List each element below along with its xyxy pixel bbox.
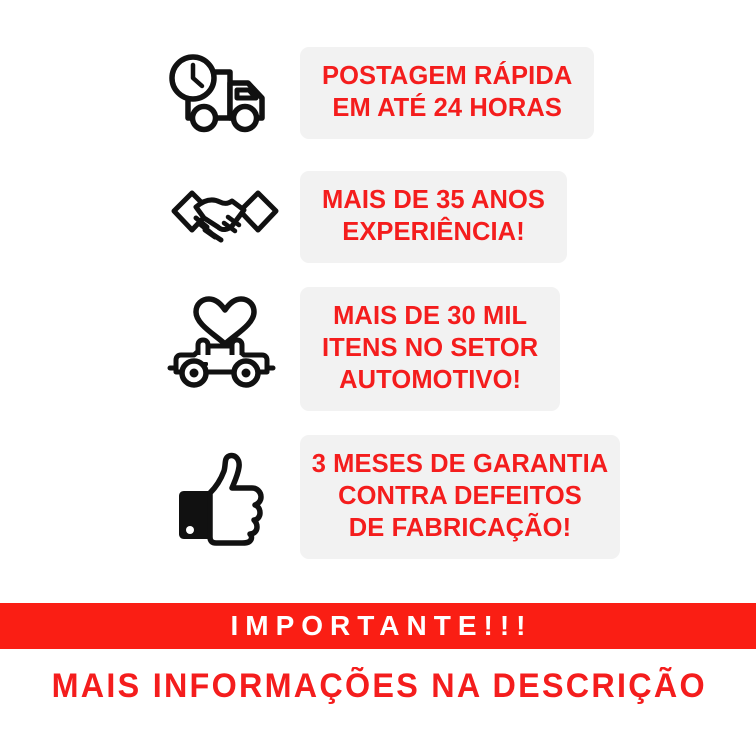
description-callout: MAIS INFORMAÇÕES NA DESCRIÇÃO	[0, 655, 756, 717]
benefits-list: POSTAGEM RÁPIDA EM ATÉ 24 HORAS	[0, 0, 756, 596]
car-heart-icon	[150, 296, 300, 402]
benefit-text-line: CONTRA DEFEITOS	[338, 480, 582, 512]
promo-banner: POSTAGEM RÁPIDA EM ATÉ 24 HORAS	[0, 0, 756, 756]
delivery-truck-clock-icon	[150, 40, 300, 146]
benefit-text-line: EM ATÉ 24 HORAS	[332, 92, 562, 124]
benefit-text-line: POSTAGEM RÁPIDA	[322, 60, 572, 92]
benefit-pill-experience: MAIS DE 35 ANOS EXPERIÊNCIA!	[300, 171, 567, 263]
benefit-text-line: AUTOMOTIVO!	[339, 364, 521, 396]
benefit-text-line: MAIS DE 30 MIL	[333, 300, 527, 332]
benefit-row-warranty: 3 MESES DE GARANTIA CONTRA DEFEITOS DE F…	[150, 435, 620, 559]
benefit-row-fast-shipping: POSTAGEM RÁPIDA EM ATÉ 24 HORAS	[150, 40, 620, 146]
benefit-pill-warranty: 3 MESES DE GARANTIA CONTRA DEFEITOS DE F…	[300, 435, 620, 559]
benefit-row-experience: MAIS DE 35 ANOS EXPERIÊNCIA!	[150, 164, 620, 270]
benefit-text-line: DE FABRICAÇÃO!	[349, 512, 571, 544]
benefit-text-line: EXPERIÊNCIA!	[342, 216, 525, 248]
benefit-pill-automotive-items: MAIS DE 30 MIL ITENS NO SETOR AUTOMOTIVO…	[300, 287, 560, 411]
benefit-text-line: ITENS NO SETOR	[322, 332, 538, 364]
important-label: IMPORTANTE!!!	[224, 603, 533, 649]
benefit-text-line: MAIS DE 35 ANOS	[322, 184, 545, 216]
benefit-pill-fast-shipping: POSTAGEM RÁPIDA EM ATÉ 24 HORAS	[300, 47, 594, 139]
benefit-row-automotive-items: MAIS DE 30 MIL ITENS NO SETOR AUTOMOTIVO…	[150, 287, 620, 411]
handshake-icon	[150, 164, 300, 270]
thumbs-up-icon	[150, 444, 300, 550]
description-label: MAIS INFORMAÇÕES NA DESCRIÇÃO	[49, 663, 707, 709]
benefit-text-line: 3 MESES DE GARANTIA	[312, 448, 609, 480]
important-banner: IMPORTANTE!!!	[0, 603, 756, 649]
